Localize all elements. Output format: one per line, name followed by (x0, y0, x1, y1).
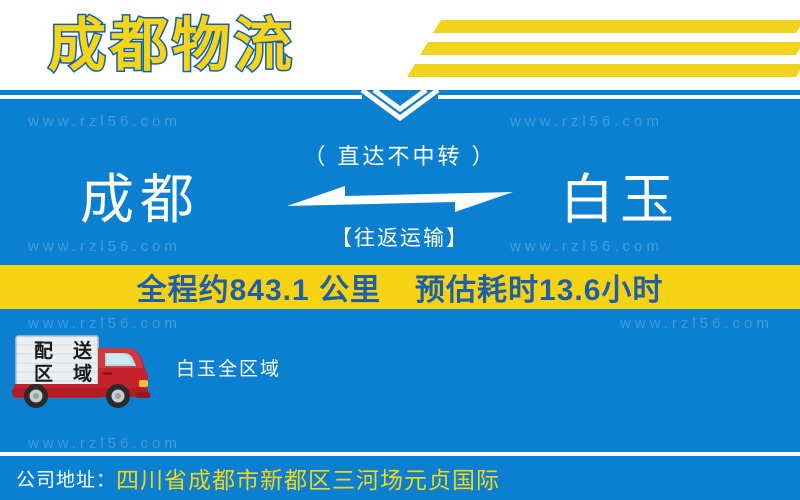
watermark: www.rzl56.com (510, 113, 663, 130)
company-address-label: 公司地址： (16, 465, 116, 492)
header-divider-right (438, 95, 800, 99)
chevron-down-icon (360, 88, 440, 126)
watermark: www.rzl56.com (28, 435, 181, 452)
delivery-truck-icon (8, 332, 150, 408)
footer: 公司地址： 四川省成都市新都区三河场元贞国际 (0, 456, 800, 500)
page-title: 成都物流 (48, 6, 296, 86)
header-stripe-2 (420, 42, 800, 55)
watermark: www.rzl56.com (28, 315, 181, 332)
watermark: www.rzl56.com (620, 315, 773, 332)
distance-stat: 全程约843.1 公里 (137, 265, 381, 309)
route-note: （ 直达不中转 ） (0, 139, 800, 171)
delivery-area-label: 白玉全区域 (176, 354, 281, 381)
route-mode: 【往返运输】 (0, 222, 800, 252)
bidirectional-arrow-icon (287, 178, 513, 220)
header-stripe-1 (433, 20, 800, 33)
logistics-banner: 成都物流 www.rzl56.com www.rzl56.com www.rzl… (0, 0, 800, 500)
header-divider-left (0, 95, 362, 99)
watermark: www.rzl56.com (28, 113, 181, 130)
duration-stat: 预估耗时13.6小时 (415, 265, 663, 309)
delivery-area-row: 配 送 区 域 白玉全区域 (8, 332, 508, 408)
stats-band: 全程约843.1 公里 预估耗时13.6小时 (0, 265, 800, 309)
banner-header: 成都物流 (0, 0, 800, 90)
header-stripe-3 (407, 64, 800, 77)
company-address-value: 四川省成都市新都区三河场元贞国际 (116, 461, 500, 495)
